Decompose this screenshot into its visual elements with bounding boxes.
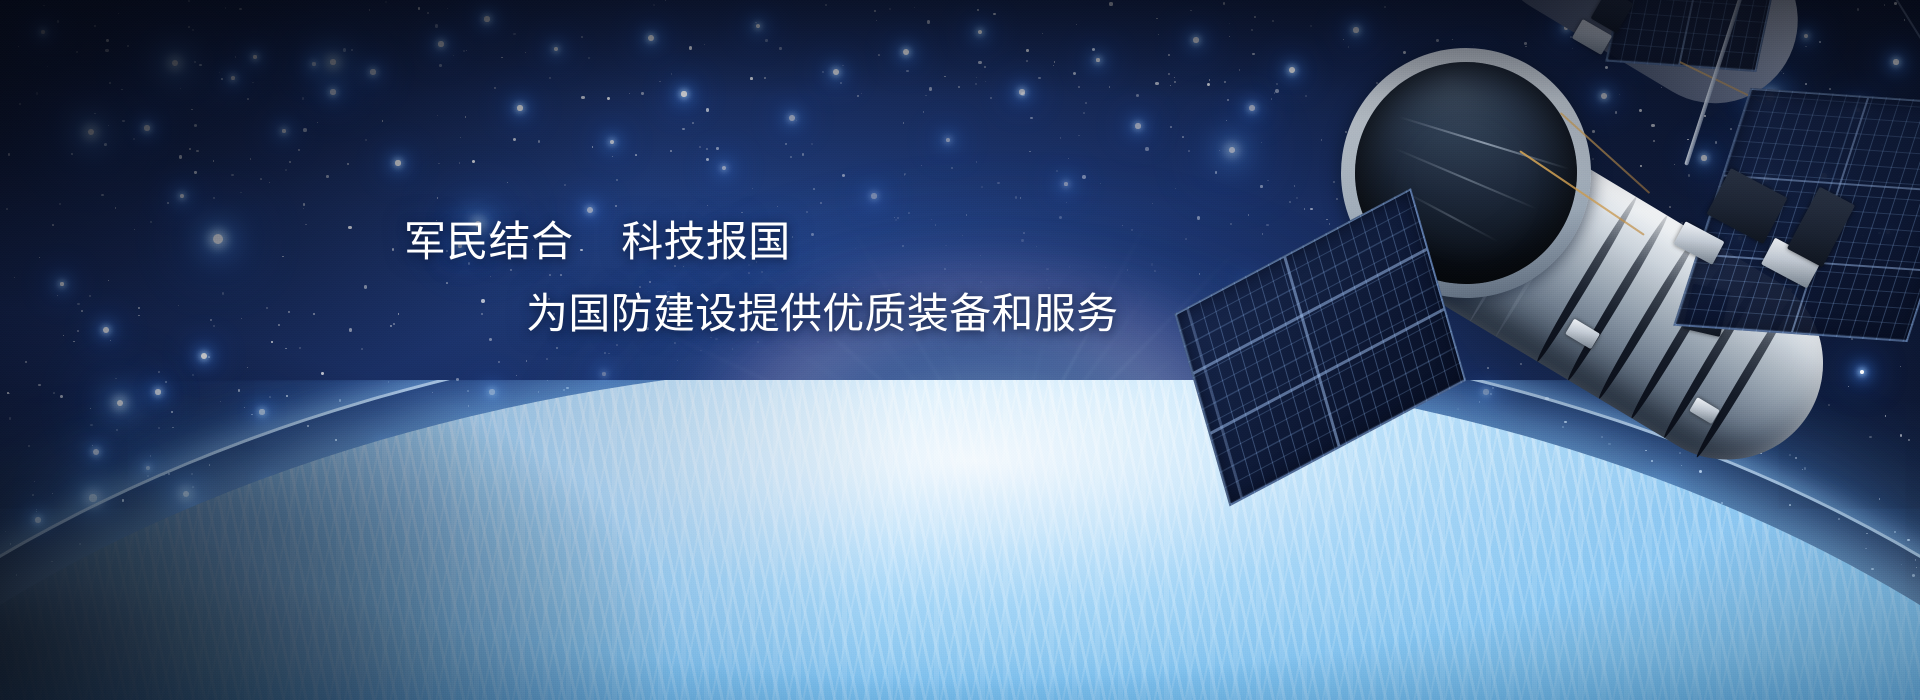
film-grain-fine	[0, 0, 1920, 700]
banner-headline: 军民结合 科技报国 为国防建设提供优质装备和服务	[404, 214, 1118, 343]
headline-line-1: 军民结合 科技报国	[404, 214, 1118, 270]
headline-line-2: 为国防建设提供优质装备和服务	[526, 286, 1118, 342]
banner-stage: 军民结合 科技报国 为国防建设提供优质装备和服务	[0, 0, 1920, 700]
